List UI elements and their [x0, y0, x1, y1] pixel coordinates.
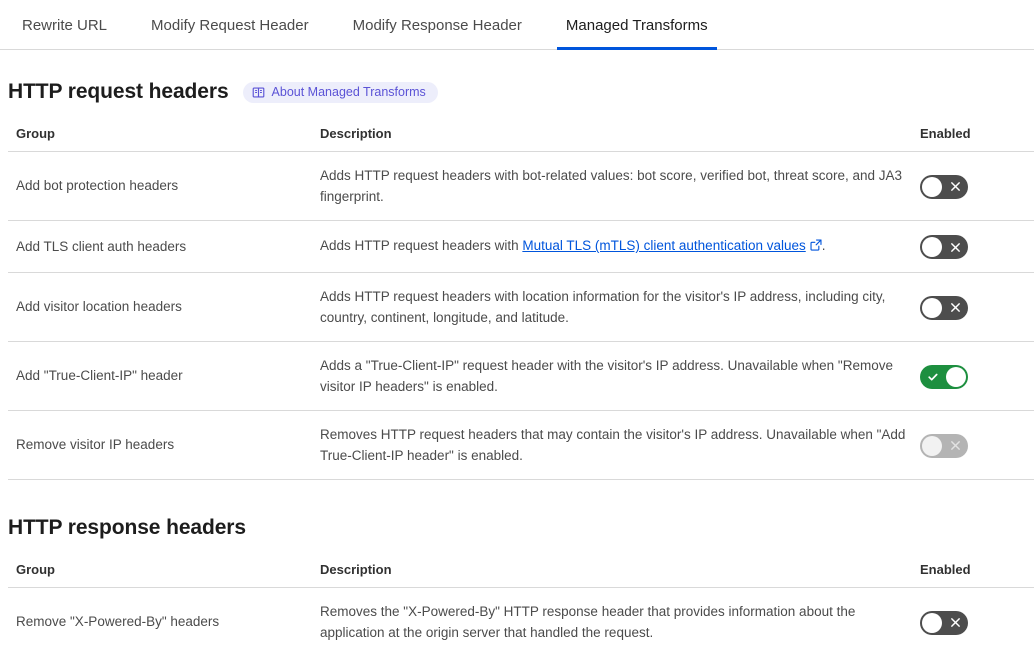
- row-group-name: Add bot protection headers: [8, 152, 320, 221]
- toggle-add-bot-protection-headers[interactable]: [920, 175, 968, 199]
- close-icon: [942, 235, 968, 259]
- table-header-row: Group Description Enabled: [8, 126, 1034, 152]
- toggle-knob: [922, 613, 942, 633]
- request-headers-table: Group Description Enabled Add bot protec…: [8, 126, 1034, 480]
- row-description: Adds a "True-Client-IP" request header w…: [320, 342, 920, 411]
- column-header-group: Group: [8, 126, 320, 152]
- http-request-headers-section: HTTP request headers About Managed Trans…: [0, 80, 1034, 480]
- response-headers-table: Group Description Enabled Remove "X-Powe…: [8, 562, 1034, 653]
- row-description: Adds HTTP request headers with Mutual TL…: [320, 221, 920, 273]
- toggle-remove-x-powered-by-headers[interactable]: [920, 611, 968, 635]
- response-section-title: HTTP response headers: [8, 516, 246, 540]
- close-icon: [942, 434, 968, 458]
- close-icon: [942, 611, 968, 635]
- mtls-docs-link[interactable]: Mutual TLS (mTLS) client authentication …: [522, 238, 805, 253]
- table-row: Add bot protection headers Adds HTTP req…: [8, 152, 1034, 221]
- tab-rewrite-url[interactable]: Rewrite URL: [0, 0, 129, 50]
- http-response-headers-section: HTTP response headers Group Description …: [0, 516, 1034, 653]
- row-group-name: Add TLS client auth headers: [8, 221, 320, 273]
- table-row: Remove visitor IP headers Removes HTTP r…: [8, 411, 1034, 480]
- page-title: HTTP request headers: [8, 80, 229, 104]
- tab-modify-request-header[interactable]: Modify Request Header: [129, 0, 331, 50]
- row-enabled-cell: [920, 273, 1034, 342]
- row-group-name: Remove "X-Powered-By" headers: [8, 588, 320, 653]
- tab-label: Modify Response Header: [353, 17, 522, 34]
- row-enabled-cell: [920, 411, 1034, 480]
- badge-label: About Managed Transforms: [272, 86, 426, 99]
- description-suffix: .: [822, 238, 826, 253]
- close-icon: [942, 296, 968, 320]
- table-row: Remove "X-Powered-By" headers Removes th…: [8, 588, 1034, 653]
- column-header-description: Description: [320, 126, 920, 152]
- row-description: Adds HTTP request headers with bot-relat…: [320, 152, 920, 221]
- toggle-knob: [946, 367, 966, 387]
- table-row: Add "True-Client-IP" header Adds a "True…: [8, 342, 1034, 411]
- toggle-add-tls-client-auth-headers[interactable]: [920, 235, 968, 259]
- external-link-icon: [810, 237, 822, 258]
- toggle-knob: [922, 436, 942, 456]
- toggle-knob: [922, 298, 942, 318]
- toggle-knob: [922, 237, 942, 257]
- close-icon: [942, 175, 968, 199]
- about-managed-transforms-badge[interactable]: About Managed Transforms: [243, 82, 438, 103]
- toggle-add-visitor-location-headers[interactable]: [920, 296, 968, 320]
- row-group-name: Remove visitor IP headers: [8, 411, 320, 480]
- tab-label: Managed Transforms: [566, 17, 708, 34]
- tab-managed-transforms[interactable]: Managed Transforms: [544, 0, 730, 50]
- book-icon: [252, 86, 265, 99]
- row-enabled-cell: [920, 221, 1034, 273]
- row-description: Adds HTTP request headers with location …: [320, 273, 920, 342]
- row-description: Removes the "X-Powered-By" HTTP response…: [320, 588, 920, 653]
- description-prefix: Adds HTTP request headers with: [320, 238, 522, 253]
- toggle-remove-visitor-ip-headers: [920, 434, 968, 458]
- column-header-description: Description: [320, 562, 920, 588]
- column-header-enabled: Enabled: [920, 562, 1034, 588]
- row-description: Removes HTTP request headers that may co…: [320, 411, 920, 480]
- tab-label: Rewrite URL: [22, 17, 107, 34]
- toggle-knob: [922, 177, 942, 197]
- column-header-enabled: Enabled: [920, 126, 1034, 152]
- request-section-header: HTTP request headers About Managed Trans…: [8, 80, 1026, 104]
- row-enabled-cell: [920, 588, 1034, 653]
- response-section-header: HTTP response headers: [8, 516, 1026, 540]
- tab-modify-response-header[interactable]: Modify Response Header: [331, 0, 544, 50]
- table-row: Add visitor location headers Adds HTTP r…: [8, 273, 1034, 342]
- row-enabled-cell: [920, 342, 1034, 411]
- column-header-group: Group: [8, 562, 320, 588]
- table-header-row: Group Description Enabled: [8, 562, 1034, 588]
- check-icon: [920, 365, 946, 389]
- tab-label: Modify Request Header: [151, 17, 309, 34]
- table-row: Add TLS client auth headers Adds HTTP re…: [8, 221, 1034, 273]
- tab-bar: Rewrite URL Modify Request Header Modify…: [0, 0, 1034, 50]
- toggle-add-true-client-ip-header[interactable]: [920, 365, 968, 389]
- row-enabled-cell: [920, 152, 1034, 221]
- row-group-name: Add "True-Client-IP" header: [8, 342, 320, 411]
- row-group-name: Add visitor location headers: [8, 273, 320, 342]
